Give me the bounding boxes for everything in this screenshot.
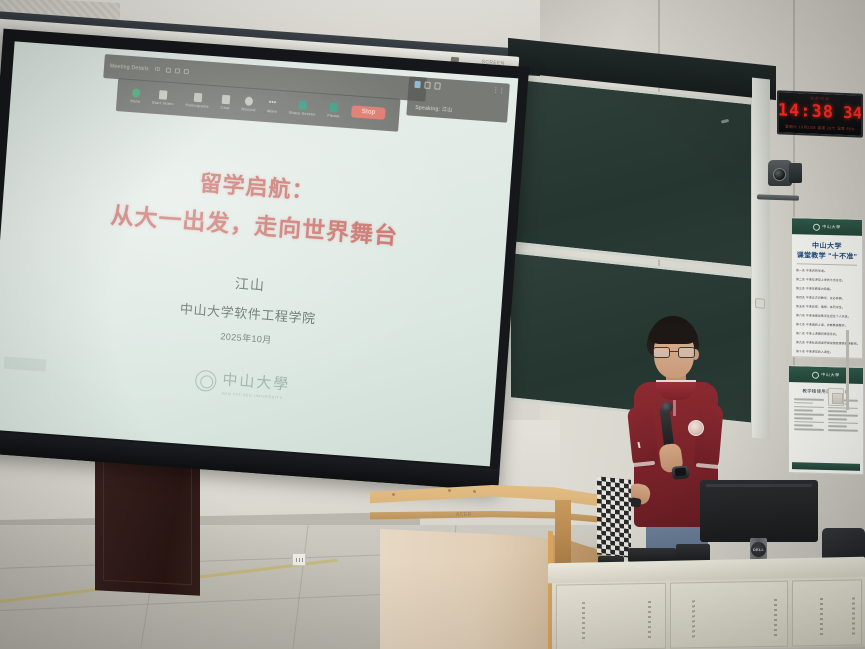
vc-button-label: Chat (220, 104, 230, 110)
vc-view-controls[interactable] (415, 81, 441, 90)
record-icon (245, 96, 254, 106)
presenter-hair-fringe (649, 324, 697, 344)
more-icon: ••• (268, 98, 277, 108)
vc-button-label: Start Video (152, 99, 174, 106)
vc-button-label: Share Screen (289, 110, 316, 117)
slide-affiliation: 中山大学软件工程学院 (179, 298, 316, 327)
poster-item: 第四条 不准正方向教学，言必有据。 (796, 295, 858, 301)
lectern-screw (473, 490, 476, 493)
poster-banner-text: 中山大學 (822, 224, 840, 230)
cabinet-vent (648, 601, 651, 641)
cabinet-vent (582, 602, 585, 642)
checkered-chair-back (597, 476, 631, 558)
vc-button-label: Participants (185, 102, 209, 109)
poster-b-column (794, 398, 824, 461)
cabinet-door[interactable] (670, 581, 788, 649)
projected-image: Meeting Details ID You're Viewing · Remo… (0, 41, 518, 466)
lectern-screw (448, 489, 451, 492)
vc-button-label: Record (241, 106, 255, 112)
vc-button-record[interactable]: Record (241, 96, 256, 112)
clock-readout: 14:38 34 (779, 100, 861, 123)
poster-title-line2: 课堂教学 "十不准" (792, 250, 862, 262)
poster-item: 第五条 不准歧视、侮辱、体罚学生。 (796, 304, 858, 310)
wall-conduit (846, 330, 849, 410)
blackboard-rail (752, 78, 770, 440)
fullscreen-icon[interactable] (175, 69, 180, 74)
monitor-vent (706, 484, 812, 487)
slide-author: 江山 (234, 273, 265, 295)
glasses-bridge (670, 351, 678, 352)
text-line (794, 398, 824, 400)
lecture-hall-photo: 当前时间 14:38 34 星期六 10月25日 温度 26℃ 湿度 65% 中… (0, 0, 865, 649)
glasses-right-lens (678, 347, 695, 358)
stop-share-button[interactable]: Stop (351, 106, 385, 120)
vc-mini-icon-group[interactable] (166, 68, 189, 75)
vc-button-share-screen[interactable]: Share Screen (289, 100, 317, 117)
cabinet-vent (692, 600, 695, 640)
dell-monitor (700, 480, 818, 542)
text-line (828, 426, 847, 428)
vc-speaking-label: Speaking: (415, 105, 440, 113)
speaker-view-icon[interactable] (415, 81, 421, 88)
text-line (794, 428, 824, 430)
layout-icon[interactable] (435, 82, 441, 89)
poster-banner: 中山大學 (789, 366, 863, 384)
door-panel (103, 458, 192, 586)
text-line (794, 421, 824, 423)
wristwatch (671, 465, 689, 480)
vc-speaking-indicator: Speaking: 江山 (415, 104, 453, 114)
poster-usage-notice: 中山大學 教学楼使用须知一览表 (788, 365, 864, 475)
text-line (828, 410, 847, 412)
poster-banner: 中山大學 (792, 218, 862, 236)
slide-title-line2: 从大一出发，走向世界舞台 (110, 196, 400, 251)
text-line (794, 406, 824, 408)
text-line (794, 413, 824, 415)
clock-footer: 星期六 10月25日 温度 26℃ 湿度 65% (779, 124, 861, 132)
wooden-post (555, 500, 571, 564)
text-line (794, 402, 813, 404)
vc-speaking-name: 江山 (442, 107, 453, 114)
vc-button-mute[interactable]: Mute (130, 88, 141, 104)
vc-button-label: Pause (327, 112, 340, 118)
text-line (828, 429, 858, 431)
vc-button-more[interactable]: ••• More (267, 98, 278, 114)
lock-icon[interactable] (184, 69, 189, 74)
vc-button-chat[interactable]: Chat (220, 95, 230, 111)
people-icon (193, 93, 202, 103)
vc-meeting-id: ID (155, 67, 161, 73)
text-line (794, 410, 813, 412)
vc-button-label: Mute (130, 98, 140, 104)
vc-button-pause[interactable]: Pause (327, 102, 340, 118)
poster-item: 第二条 不准在课堂上发表不当言论。 (796, 277, 858, 283)
poster-b-title: 教学楼使用须知一览表 (789, 388, 863, 396)
signal-icon[interactable] (166, 68, 171, 73)
gallery-view-icon[interactable] (425, 81, 431, 88)
text-line (828, 418, 847, 420)
cabinet-vent (774, 599, 777, 639)
cabinet-vent (852, 597, 855, 637)
university-seal-icon (813, 223, 820, 230)
glasses-icon (653, 347, 695, 358)
clock-seconds: 34 (843, 103, 862, 123)
led-clock: 当前时间 14:38 34 星期六 10月25日 温度 26℃ 湿度 65% (777, 90, 863, 137)
camera-side-module (789, 163, 802, 183)
text-line (828, 414, 858, 416)
microphone-icon (132, 88, 141, 98)
vc-meeting-info: Meeting Details (110, 63, 149, 72)
poster-footer-bar (792, 462, 860, 471)
clock-hours-minutes: 14:38 (778, 100, 834, 122)
slide-content: 留学启航： 从大一出发，走向世界舞台 江山 中山大学软件工程学院 2025年10… (0, 96, 514, 467)
light-switch[interactable] (828, 388, 844, 407)
text-line (828, 407, 858, 409)
logo-text-block: 中山大學 SUN YAT-SEN UNIVERSITY (221, 369, 291, 401)
text-line (794, 417, 813, 419)
rail-clip (755, 298, 765, 309)
slide-university-logo: 中山大學 SUN YAT-SEN UNIVERSITY (194, 367, 291, 401)
shirt-emblem (688, 420, 704, 436)
pause-icon (330, 103, 339, 113)
share-screen-icon (299, 100, 308, 110)
cabinet-vent (820, 598, 823, 638)
lectern-brand-label: ACER (456, 512, 472, 518)
poster-ten-prohibitions: 中山大學 中山大学 课堂教学 "十不准" 第一条 不准迟到早退。 第二条 不准在… (791, 217, 863, 359)
presentation-clicker[interactable] (629, 497, 641, 508)
floor-tile-line (292, 525, 308, 648)
slide-title-line1: 留学启航： (199, 165, 316, 205)
blackboard-upper (508, 76, 754, 270)
text-line (794, 425, 813, 427)
vc-right-panel[interactable]: ⋮⋮ Speaking: 江山 (407, 76, 511, 122)
poster-item: 第六条 不准泄漏出售学生招生个人信息。 (796, 313, 858, 319)
desk-cabinet-body (552, 575, 865, 649)
poster-divider (797, 263, 857, 266)
poster-item: 第三条 不准在教室内吸烟。 (796, 286, 858, 292)
poster-item: 第一条 不准迟到早退。 (796, 268, 858, 274)
av-control-desk (548, 560, 865, 649)
vc-button-start-video[interactable]: Start Video (152, 89, 175, 106)
chalk-mark (721, 119, 730, 124)
poster-item: 第七条 不准酒后上课，衣着着装整齐。 (796, 322, 858, 328)
text-line (828, 422, 858, 424)
slide-date: 2025年10月 (220, 329, 272, 346)
more-options-icon[interactable]: ⋮⋮ (493, 86, 505, 94)
camera-icon (159, 90, 168, 100)
power-outlet (292, 553, 306, 566)
presenter-right-sleeve (693, 403, 724, 471)
lectern-screw (392, 493, 395, 496)
camera-lens-icon (773, 168, 786, 181)
vc-button-label: More (267, 108, 277, 114)
vc-button-participants[interactable]: Participants (185, 92, 209, 109)
poster-banner-text: 中山大學 (821, 372, 839, 378)
glasses-left-lens (653, 347, 670, 358)
chat-icon (221, 95, 230, 105)
logo-chinese-name: 中山大學 (222, 369, 291, 395)
university-seal-icon (195, 370, 217, 392)
projection-screen: Meeting Details ID You're Viewing · Remo… (0, 29, 529, 491)
university-seal-icon (812, 371, 819, 378)
poster-b-column (828, 399, 858, 462)
